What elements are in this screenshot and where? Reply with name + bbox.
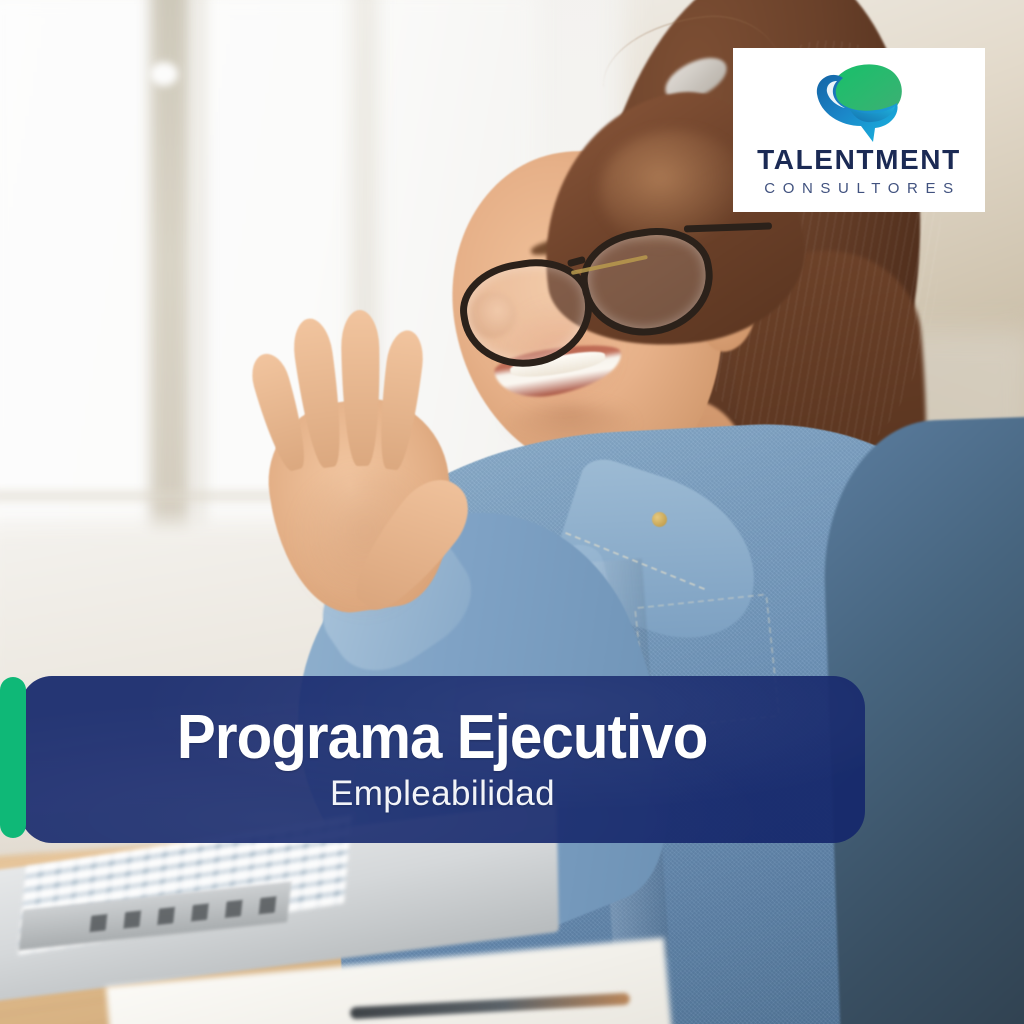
page-title: Programa Ejecutivo	[177, 706, 707, 769]
eyeglass-lens-right	[574, 220, 721, 345]
logo-wordmark: TALENTMENT	[757, 146, 961, 174]
page-subtitle: Empleabilidad	[330, 775, 555, 814]
poster-canvas: TALENTMENT CONSULTORES Programa Ejecutiv…	[0, 0, 1024, 1024]
banner-text-block: Programa Ejecutivo Empleabilidad	[20, 676, 865, 843]
talentment-logo-card[interactable]: TALENTMENT CONSULTORES	[733, 48, 985, 212]
logo-subtext: CONSULTORES	[757, 181, 960, 196]
shirt-button-top	[652, 512, 667, 527]
brain-speech-bubble-icon	[807, 56, 911, 144]
